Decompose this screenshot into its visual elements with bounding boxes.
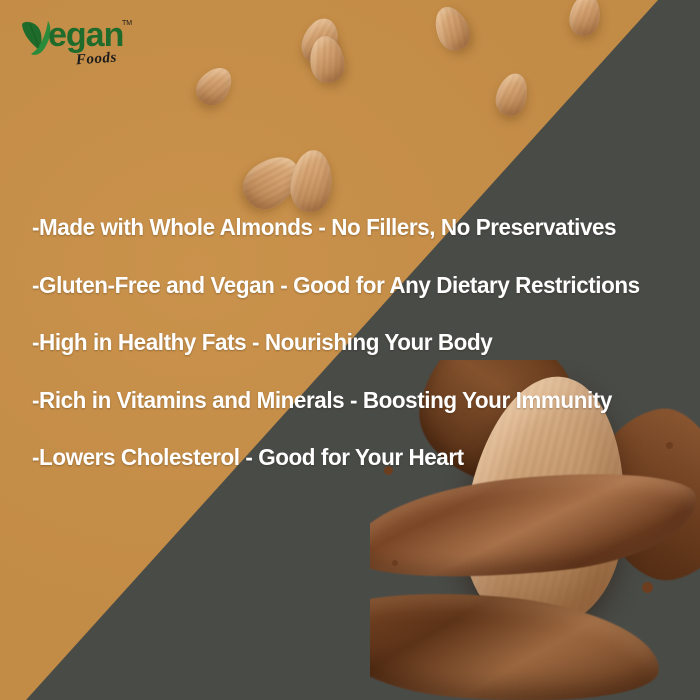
benefit-item: -High in Healthy Fats - Nourishing Your … <box>32 327 666 385</box>
chocolate-drop-icon <box>642 582 653 593</box>
brand-subtitle: Foods <box>75 50 117 70</box>
chocolate-drop-icon <box>392 560 398 566</box>
benefit-item: -Rich in Vitamins and Minerals - Boostin… <box>32 385 666 443</box>
brand-logo[interactable]: egan TM Foods <box>18 18 138 74</box>
brand-name: egan <box>48 18 123 52</box>
chocolate-splash-icon <box>370 581 664 700</box>
benefit-list: -Made with Whole Almonds - No Fillers, N… <box>32 212 696 500</box>
brand-name-green: egan <box>48 16 123 54</box>
benefit-item: -Made with Whole Almonds - No Fillers, N… <box>32 212 666 270</box>
product-benefits-poster: egan TM Foods -Made with Whole Almonds -… <box>0 0 700 700</box>
benefit-item: -Lowers Cholesterol - Good for Your Hear… <box>32 442 666 500</box>
trademark-symbol: TM <box>122 20 132 27</box>
benefit-item: -Gluten-Free and Vegan - Good for Any Di… <box>32 270 666 328</box>
